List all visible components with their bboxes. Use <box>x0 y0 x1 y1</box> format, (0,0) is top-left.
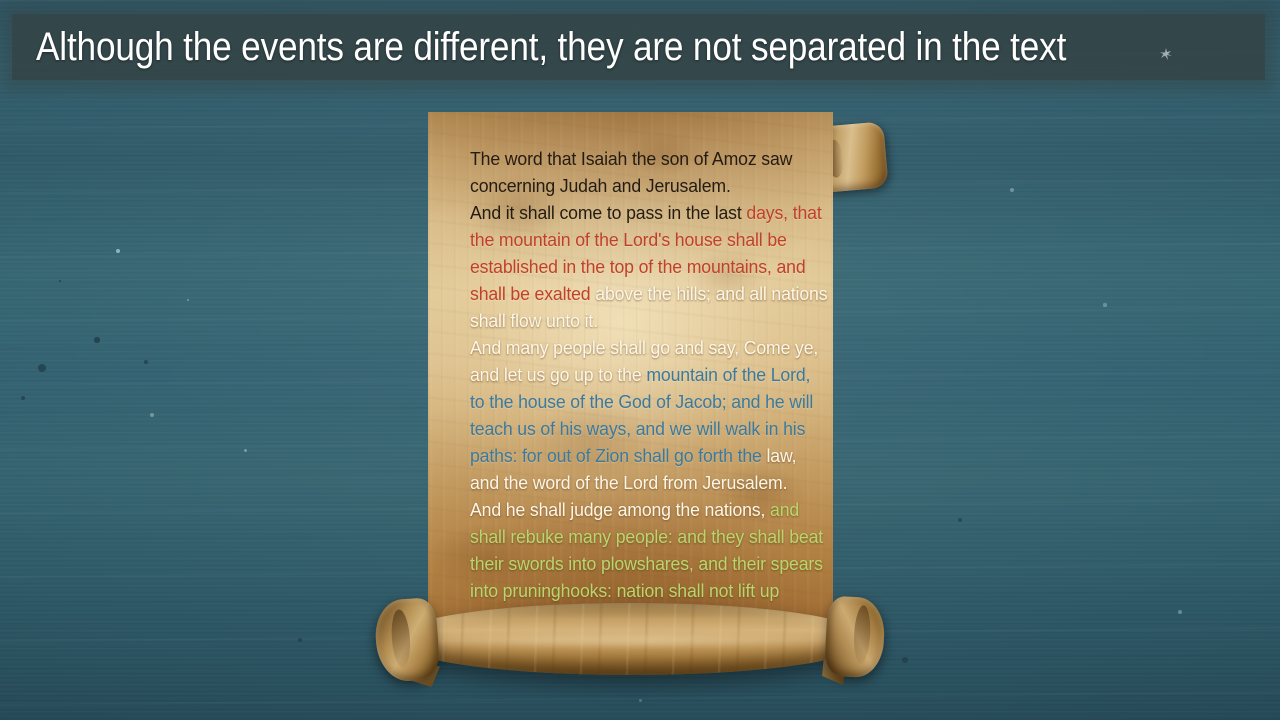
scripture-segment-white: and the word of the Lord from Jerusalem. <box>470 472 787 493</box>
scripture-line: shall be exalted above the hills; and al… <box>470 280 804 307</box>
scripture-segment-dark: concerning Judah and Jerusalem. <box>470 175 731 196</box>
scripture-line: and the word of the Lord from Jerusalem. <box>470 469 804 496</box>
scripture-line: and let us go up to the mountain of the … <box>470 361 804 388</box>
scripture-line: And it shall come to pass in the last da… <box>470 199 804 226</box>
scripture-segment-green: their swords into plowshares, and their … <box>470 553 823 574</box>
paint-fleck <box>958 518 963 523</box>
paint-fleck <box>298 638 302 642</box>
scripture-line: And he shall judge among the nations, an… <box>470 496 804 523</box>
scripture-segment-red: the mountain of the Lord's house shall b… <box>470 229 787 250</box>
scripture-segment-green: and <box>770 499 799 520</box>
scripture-line: established in the top of the mountains,… <box>470 253 804 280</box>
scripture-line: And many people shall go and say, Come y… <box>470 334 804 361</box>
scripture-segment-red: days, that <box>746 202 821 223</box>
paint-fleck <box>187 299 190 302</box>
scripture-text: The word that Isaiah the son of Amoz saw… <box>470 145 804 604</box>
scripture-segment-dark: The word that Isaiah the son of Amoz saw <box>470 148 792 169</box>
paint-fleck <box>150 413 154 417</box>
scripture-line: teach us of his ways, and we will walk i… <box>470 415 804 442</box>
paint-fleck <box>59 280 62 283</box>
title-bar: Although the events are different, they … <box>12 14 1265 80</box>
paint-fleck <box>244 449 247 452</box>
scripture-segment-blue: mountain of the Lord, <box>646 364 810 385</box>
paint-fleck <box>144 360 147 363</box>
scripture-segment-blue: teach us of his ways, and we will walk i… <box>470 418 805 439</box>
scripture-line: shall flow unto it. <box>470 307 804 334</box>
scripture-segment-red: established in the top of the mountains,… <box>470 256 806 277</box>
scripture-line: their swords into plowshares, and their … <box>470 550 804 577</box>
paint-fleck <box>94 337 99 342</box>
scroll-roll-cylinder <box>398 603 864 675</box>
scripture-segment-red: shall be exalted <box>470 283 590 304</box>
paint-fleck <box>1178 610 1182 614</box>
scripture-line: concerning Judah and Jerusalem. <box>470 172 804 199</box>
paint-fleck <box>116 249 120 253</box>
scripture-segment-green: shall rebuke many people: and they shall… <box>470 526 823 547</box>
paint-fleck <box>38 364 46 372</box>
paint-fleck <box>21 396 25 400</box>
scripture-line: to the house of the God of Jacob; and he… <box>470 388 804 415</box>
scripture-segment-white: above the hills; and all nations <box>590 283 827 304</box>
scripture-segment-white: shall flow unto it. <box>470 310 598 331</box>
scripture-line: into pruninghooks: nation shall not lift… <box>470 577 804 604</box>
scripture-segment-blue: paths: for out of Zion shall go forth th… <box>470 445 766 466</box>
scripture-segment-blue: to the house of the God of Jacob; and he… <box>470 391 813 412</box>
scripture-segment-white: and let us go up to the <box>470 364 646 385</box>
paint-fleck <box>902 657 908 663</box>
scripture-line: the mountain of the Lord's house shall b… <box>470 226 804 253</box>
scripture-segment-white: law, <box>766 445 796 466</box>
paint-fleck <box>1010 188 1014 192</box>
scripture-segment-white: And he shall judge among the nations, <box>470 499 770 520</box>
scripture-segment-white: And many people shall go and say, Come y… <box>470 337 818 358</box>
scripture-line: The word that Isaiah the son of Amoz saw <box>470 145 804 172</box>
scroll-roll-knob-right <box>824 596 886 679</box>
scroll-roll-knob-left <box>373 597 441 683</box>
slide-title: Although the events are different, they … <box>36 25 1066 70</box>
scripture-line: paths: for out of Zion shall go forth th… <box>470 442 804 469</box>
parchment-scroll: The word that Isaiah the son of Amoz saw… <box>370 100 890 705</box>
paint-fleck <box>1103 303 1106 306</box>
slide-canvas: Although the events are different, they … <box>0 0 1280 720</box>
scripture-line: shall rebuke many people: and they shall… <box>470 523 804 550</box>
scripture-segment-dark: And it shall come to pass in the last <box>470 202 746 223</box>
scripture-segment-green: into pruninghooks: nation shall not lift… <box>470 580 779 601</box>
scroll-bottom-roll <box>376 595 884 681</box>
